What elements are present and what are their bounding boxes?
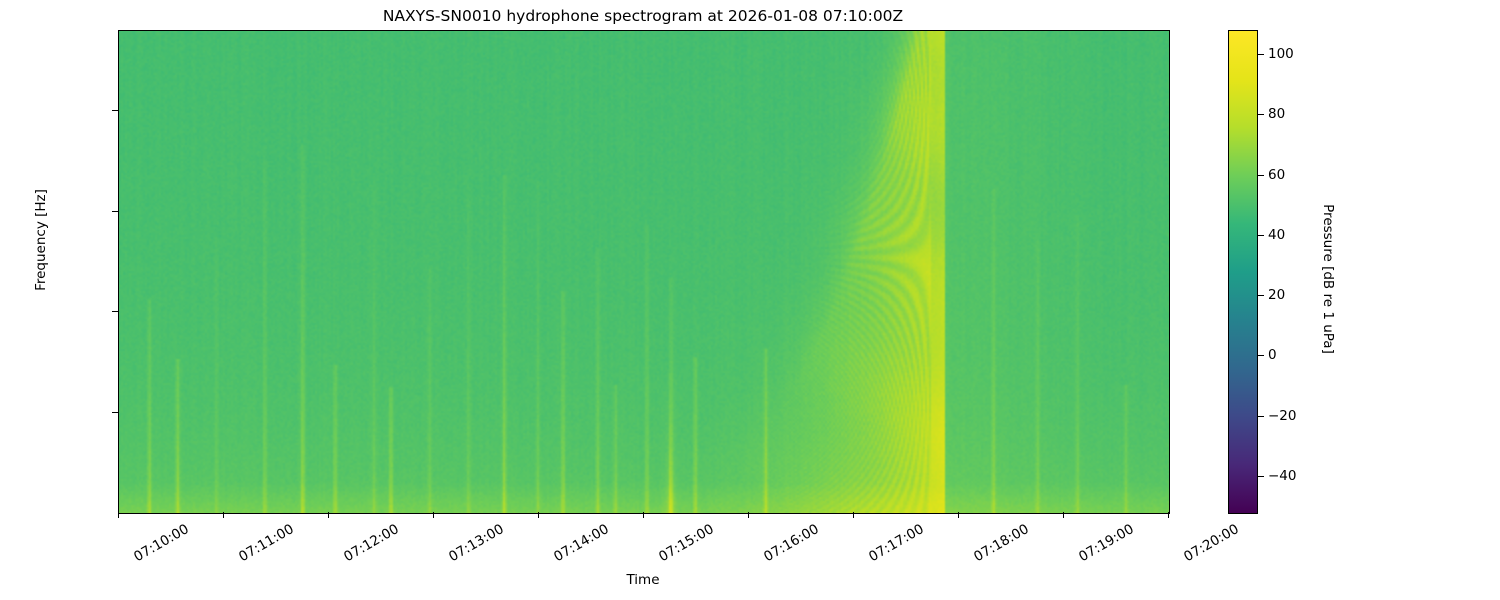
- x-tick-label: 07:11:00: [236, 521, 297, 565]
- y-tick-label: 10000: [0, 404, 108, 420]
- x-tick-mark: [433, 512, 434, 518]
- colorbar-tick-label: 80: [1268, 106, 1285, 122]
- x-tick-label: 07:14:00: [551, 521, 612, 565]
- x-tick-label: 07:13:00: [446, 521, 507, 565]
- x-tick-label: 07:19:00: [1076, 521, 1137, 565]
- colorbar-tick-label: 40: [1268, 227, 1285, 243]
- colorbar-tick-mark: [1258, 175, 1264, 176]
- colorbar[interactable]: [1228, 30, 1258, 514]
- x-tick-label: 07:16:00: [761, 521, 822, 565]
- spectrogram-plot-area[interactable]: [118, 30, 1170, 514]
- x-tick-label: 07:17:00: [866, 521, 927, 565]
- colorbar-gradient: [1229, 31, 1257, 513]
- x-tick-mark: [853, 512, 854, 518]
- colorbar-tick-mark: [1258, 476, 1264, 477]
- colorbar-tick-label: 60: [1268, 167, 1285, 183]
- colorbar-tick-mark: [1258, 54, 1264, 55]
- colorbar-tick-label: 20: [1268, 287, 1285, 303]
- y-tick-label: 40000: [0, 102, 108, 118]
- colorbar-tick-mark: [1258, 295, 1264, 296]
- x-tick-mark: [223, 512, 224, 518]
- x-tick-mark: [958, 512, 959, 518]
- spectrogram-figure: NAXYS-SN0010 hydrophone spectrogram at 2…: [0, 0, 1500, 600]
- x-axis-label: Time: [118, 572, 1168, 588]
- y-tick-mark: [112, 412, 118, 413]
- colorbar-tick-mark: [1258, 114, 1264, 115]
- y-tick-mark: [112, 211, 118, 212]
- colorbar-tick-label: −40: [1268, 468, 1297, 484]
- x-tick-label: 07:20:00: [1181, 521, 1242, 565]
- x-tick-label: 07:10:00: [131, 521, 192, 565]
- x-tick-mark: [748, 512, 749, 518]
- y-tick-label: 30000: [0, 203, 108, 219]
- colorbar-tick-mark: [1258, 416, 1264, 417]
- colorbar-tick-mark: [1258, 235, 1264, 236]
- colorbar-tick-label: −20: [1268, 408, 1297, 424]
- colorbar-label: Pressure [dB re 1 uPa]: [1320, 189, 1336, 369]
- colorbar-tick-mark: [1258, 355, 1264, 356]
- y-tick-mark: [112, 311, 118, 312]
- x-tick-mark: [118, 512, 119, 518]
- page-title: NAXYS-SN0010 hydrophone spectrogram at 2…: [118, 6, 1168, 26]
- x-tick-mark: [328, 512, 329, 518]
- x-tick-label: 07:12:00: [341, 521, 402, 565]
- x-tick-mark: [643, 512, 644, 518]
- colorbar-tick-label: 100: [1268, 46, 1294, 62]
- x-tick-label: 07:15:00: [656, 521, 717, 565]
- colorbar-tick-label: 0: [1268, 347, 1277, 363]
- y-axis-label: Frequency [Hz]: [33, 180, 49, 300]
- x-tick-mark: [1168, 512, 1169, 518]
- spectrogram-heatmap: [119, 31, 1169, 513]
- y-tick-mark: [112, 110, 118, 111]
- x-tick-mark: [1063, 512, 1064, 518]
- x-tick-label: 07:18:00: [971, 521, 1032, 565]
- x-tick-mark: [538, 512, 539, 518]
- y-tick-label: 20000: [0, 303, 108, 319]
